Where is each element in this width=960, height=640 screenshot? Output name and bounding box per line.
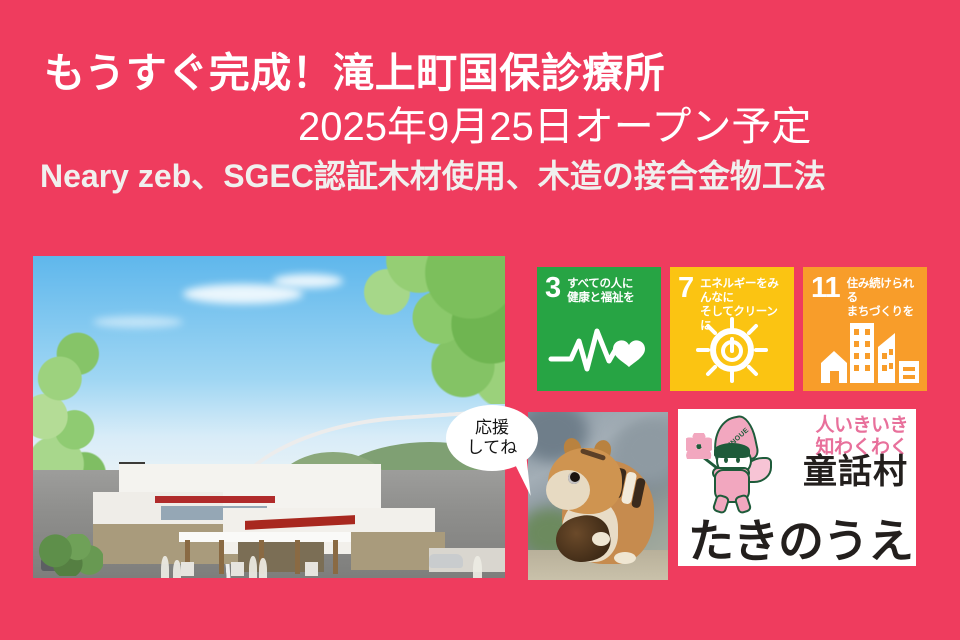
takinoue-logo-panel: TAKINOUE 人いきいき 知わくわく 童話村 たきのうえ [678,409,916,566]
column-plinth [305,562,318,576]
sdg-label: すべての人に 健康と福祉を [567,276,634,305]
chipmunk-eye [568,472,580,484]
sdg-badge-header: 3 すべての人に 健康と福祉を [537,267,661,305]
heartbeat-icon [537,317,661,383]
speech-bubble: 応援 してね [446,405,538,471]
parked-car [429,554,463,568]
sdg-number: 11 [811,276,840,301]
cloud-shape [183,284,303,304]
sdg-label: 住み続けられる まちづくりを [847,276,921,319]
mascot-hair [714,443,750,458]
sdg-badge-3[interactable]: 3 すべての人に 健康と福祉を [537,267,661,391]
mascot-eye [724,457,728,463]
opening-date-subtitle: 2025年9月25日オープン予定 [0,106,960,148]
logo-word-dowamura: 童話村 [803,455,908,489]
column-plinth [231,562,244,576]
building-red-band [155,496,275,503]
speech-bubble-text: 応援 してね [467,418,518,458]
headline-block: もうすぐ完成！滝上町国保診療所 2025年9月25日オープン予定 Neary z… [0,0,960,194]
chipmunk-paw [614,552,636,564]
figure-silhouette [249,556,257,578]
figure-silhouette [173,560,181,578]
city-buildings-icon [803,317,927,383]
mascot-leg [734,493,753,514]
column-plinth [181,562,194,576]
sdg-number: 3 [545,276,560,301]
logo-name-takinoue: たきのうえ [688,518,913,564]
canopy-column [333,540,338,574]
sdg-badge-11[interactable]: 11 住み続けられる まちづくりを [803,267,927,391]
cherry-blossom-icon [686,433,712,459]
sdg-badge-row: 3 すべての人に 健康と福祉を 7 エネルギーをみんなに そしてクリーンに [537,267,927,391]
sdg-badge-7[interactable]: 7 エネルギーをみんなに そしてクリーンに [670,267,794,391]
figure-silhouette [473,556,482,578]
tree-foliage-right [315,256,505,404]
figure-silhouette [259,558,267,578]
chipmunk-paw [592,532,610,546]
sun-power-icon [670,317,794,383]
features-subtitle: Neary zeb、SGEC認証木材使用、木造の接合金物工法 [0,160,960,194]
takinoue-mascot: TAKINOUE [686,417,772,511]
figure-silhouette [161,556,169,578]
canopy-column [295,540,300,574]
clinic-render-photo [33,256,505,578]
mascot-eye [736,457,740,463]
canopy-column [219,540,224,574]
sdg-badge-header: 11 住み続けられる まちづくりを [803,267,927,319]
chipmunk-photo [528,412,668,580]
shrub [35,534,103,576]
sdg-number: 7 [678,276,693,301]
poster-canvas: もうすぐ完成！滝上町国保診療所 2025年9月25日オープン予定 Neary z… [0,0,960,640]
page-title: もうすぐ完成！滝上町国保診療所 [0,52,960,95]
